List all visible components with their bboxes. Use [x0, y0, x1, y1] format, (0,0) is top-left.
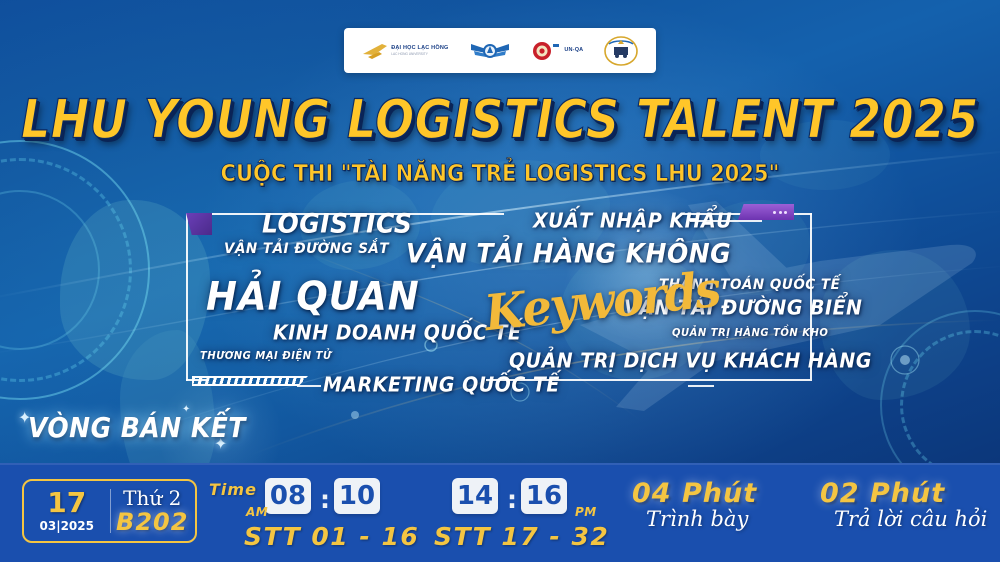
event-emblem-icon: [604, 36, 638, 66]
duration-presentation: 04 Phút Trình bày: [632, 478, 757, 531]
faculty-logo: [469, 38, 511, 64]
slot2-start-hour: 14: [452, 478, 498, 514]
frame-edge-bottom-right: [486, 379, 810, 381]
connector-marketing: [297, 385, 321, 387]
duration-qa-value: 02 Phút: [820, 478, 987, 509]
tab-dot-1: [773, 211, 776, 214]
room-code: B202: [110, 510, 196, 534]
tab-dot-3: [784, 211, 787, 214]
duration-qa: 02 Phút Trả lời câu hỏi: [820, 478, 987, 531]
duration-presentation-value: 04 Phút: [632, 478, 757, 509]
frame-edge-right: [810, 213, 812, 381]
frame-edge-top-left: [186, 213, 504, 215]
accreditation-logo-title: UN-QA: [564, 47, 583, 53]
date-month-year: 03|2025: [24, 519, 110, 533]
frame-corner-tab: [186, 213, 212, 235]
slot1-end-hour: 10: [334, 478, 380, 514]
slot2-end-hour: 16: [521, 478, 567, 514]
title-block: LHU YOUNG LOGISTICS TALENT 2025 CUỘC THI…: [0, 88, 1000, 185]
slot2-range: STT 17 - 32: [434, 522, 609, 551]
plane-gold-icon: [362, 41, 388, 61]
slot1-colon: :: [320, 485, 330, 514]
round-label: VÒNG BÁN KẾT: [28, 412, 246, 444]
sponsor-logo-bar: ĐẠI HỌC LẠC HỒNG LAC HONG UNIVERSITY: [344, 28, 656, 73]
accreditation-logo: UN-QA: [531, 40, 583, 62]
frame-menu-tab: [738, 204, 794, 220]
slot1-meridiem: AM: [246, 505, 268, 519]
lhu-logo: ĐẠI HỌC LẠC HỒNG LAC HONG UNIVERSITY: [362, 41, 448, 61]
page-title: LHU YOUNG LOGISTICS TALENT 2025: [0, 88, 1000, 151]
lhu-logo-title: ĐẠI HỌC LẠC HỒNG: [391, 45, 448, 51]
event-logo: [604, 36, 638, 66]
lhu-logo-subtitle: LAC HONG UNIVERSITY: [391, 52, 448, 56]
slot1-start-hour: 08: [265, 478, 311, 514]
page-subtitle: CUỘC THI "TÀI NĂNG TRẺ LOGISTICS LHU 202…: [0, 160, 1000, 187]
poster-canvas: ĐẠI HỌC LẠC HỒNG LAC HONG UNIVERSITY: [0, 0, 1000, 562]
duration-qa-caption: Trả lời câu hỏi: [834, 507, 987, 531]
time-label: Time: [209, 480, 257, 499]
seal-red-icon: [531, 40, 561, 62]
tab-dot-2: [779, 211, 782, 214]
slot2-colon: :: [507, 485, 517, 514]
date-box: 17 03|2025 Thứ 2 B202: [22, 479, 197, 543]
slot1-range: STT 01 - 16: [244, 522, 419, 551]
wings-blue-icon: [469, 38, 511, 64]
connector-marketing-right: [688, 385, 714, 387]
date-day: 17: [24, 489, 110, 517]
date-weekday-column: Thứ 2 B202: [110, 488, 196, 534]
date-day-column: 17 03|2025: [24, 489, 110, 533]
date-weekday: Thứ 2: [110, 488, 196, 508]
frame-ladder-decoration: [192, 376, 308, 386]
duration-presentation-caption: Trình bày: [646, 507, 757, 531]
frame-edge-left: [186, 213, 188, 381]
slot2-meridiem: PM: [575, 505, 597, 519]
